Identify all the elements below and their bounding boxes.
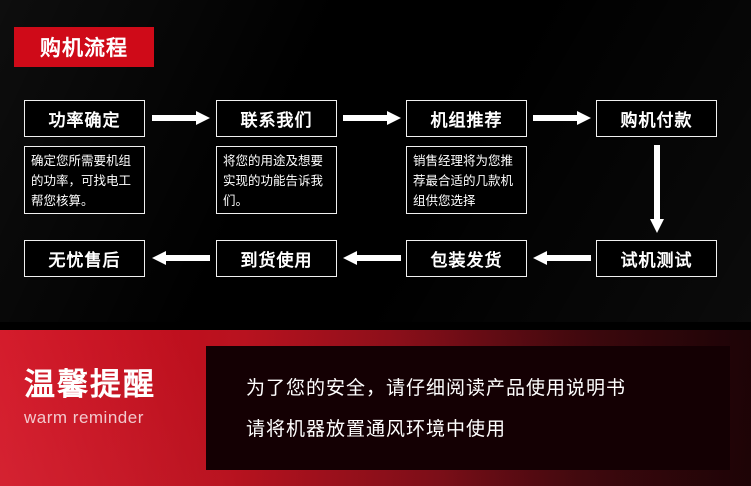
flow-node-after-sales: 无忧售后: [24, 240, 145, 277]
reminder-title-en: warm reminder: [24, 404, 204, 432]
flow-node-delivery-use: 到货使用: [216, 240, 337, 277]
flow-node-trial-test: 试机测试: [596, 240, 717, 277]
arrow-left-icon: [152, 251, 210, 265]
flow-node-payment: 购机付款: [596, 100, 717, 137]
flow-diagram-area: 购机流程 功率确定 联系我们 机组推荐 购机付款 确定您所需要机组的功率，可找电…: [0, 0, 751, 322]
arrow-right-icon: [343, 111, 401, 125]
banner-heading-group: 温馨提醒 warm reminder: [24, 366, 204, 432]
warm-reminder-banner: 温馨提醒 warm reminder 为了您的安全，请仔细阅读产品使用说明书 请…: [0, 330, 751, 486]
banner-message-line-2: 请将机器放置通风环境中使用: [246, 409, 730, 450]
flow-node-unit-recommend: 机组推荐: [406, 100, 527, 137]
reminder-title-cn: 温馨提醒: [24, 366, 204, 404]
purchase-flow-infographic: 购机流程 功率确定 联系我们 机组推荐 购机付款 确定您所需要机组的功率，可找电…: [0, 0, 751, 486]
arrow-right-icon: [533, 111, 591, 125]
section-title-tag: 购机流程: [14, 27, 154, 67]
flow-desc-contact-us: 将您的用途及想要实现的功能告诉我们。: [216, 146, 337, 214]
flow-node-contact-us: 联系我们: [216, 100, 337, 137]
banner-message-line-1: 为了您的安全，请仔细阅读产品使用说明书: [246, 368, 730, 409]
arrow-right-icon: [152, 111, 210, 125]
flow-desc-unit-recommend: 销售经理将为您推荐最合适的几款机组供您选择: [406, 146, 527, 214]
arrow-left-icon: [343, 251, 401, 265]
arrow-down-icon: [650, 145, 664, 233]
flow-node-power-confirm: 功率确定: [24, 100, 145, 137]
flow-desc-power-confirm: 确定您所需要机组的功率，可找电工帮您核算。: [24, 146, 145, 214]
flow-node-packing-shipping: 包装发货: [406, 240, 527, 277]
banner-message-panel: 为了您的安全，请仔细阅读产品使用说明书 请将机器放置通风环境中使用: [206, 346, 730, 470]
arrow-left-icon: [533, 251, 591, 265]
